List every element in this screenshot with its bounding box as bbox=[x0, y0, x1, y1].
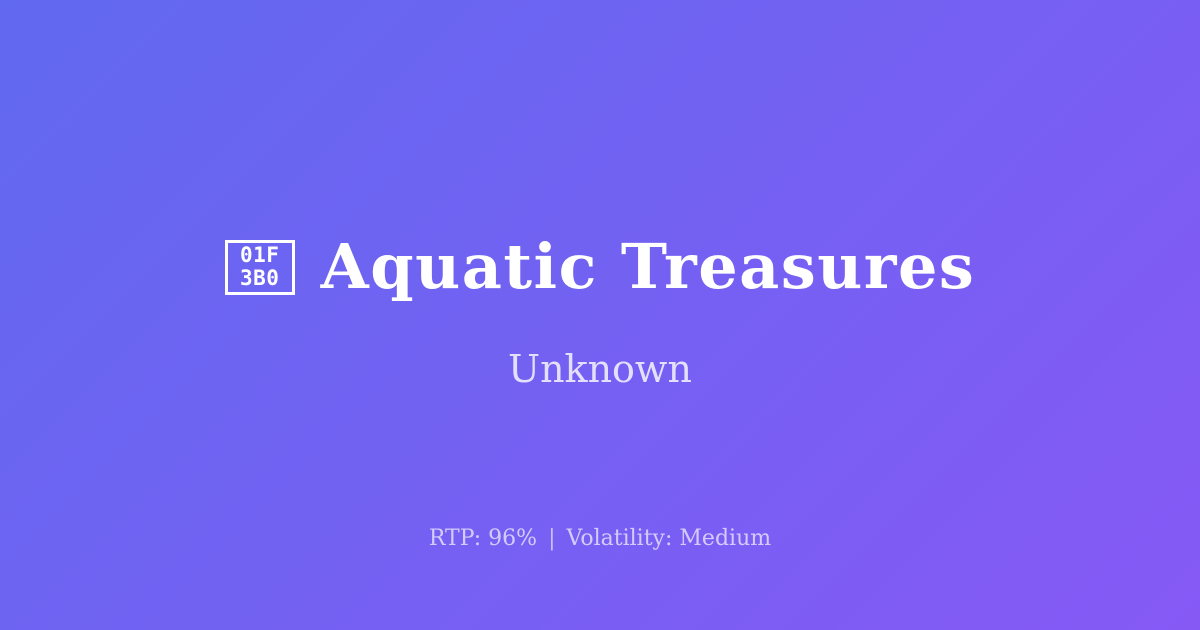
game-title: Aquatic Treasures bbox=[321, 236, 976, 298]
hero-block: 01F 3B0 Aquatic Treasures Unknown bbox=[0, 236, 1200, 388]
rtp-value: 96% bbox=[488, 526, 537, 551]
stats-separator: | bbox=[544, 526, 559, 551]
rtp-label: RTP: bbox=[429, 526, 481, 551]
volatility-value: Medium bbox=[679, 526, 771, 551]
tofu-codepoint-bottom: 3B0 bbox=[240, 267, 279, 290]
volatility-label: Volatility: bbox=[567, 526, 673, 551]
game-provider: Unknown bbox=[508, 350, 692, 388]
title-row: 01F 3B0 Aquatic Treasures bbox=[225, 236, 976, 298]
slot-machine-icon: 01F 3B0 bbox=[225, 240, 295, 295]
game-stats: RTP: 96% | Volatility: Medium bbox=[0, 528, 1200, 550]
tofu-codepoint-top: 01F bbox=[240, 244, 279, 267]
game-preview-card: 01F 3B0 Aquatic Treasures Unknown RTP: 9… bbox=[0, 0, 1200, 630]
